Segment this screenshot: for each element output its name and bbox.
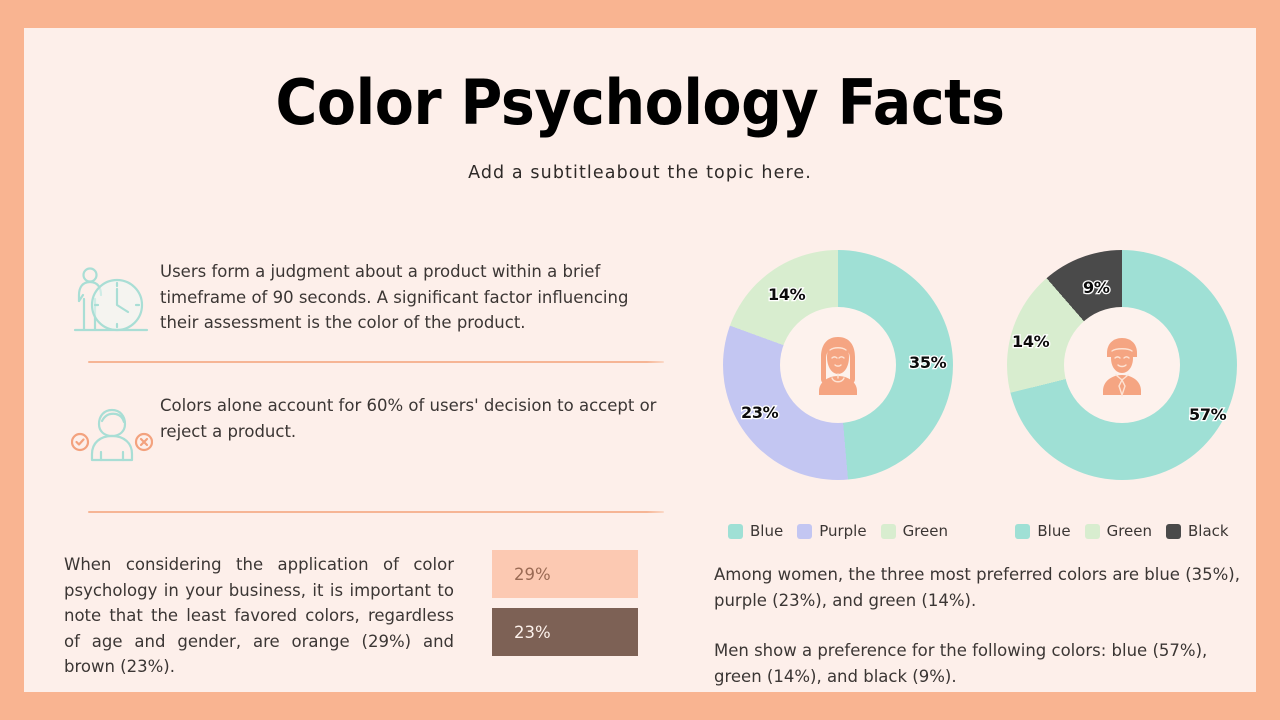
page-subtitle: Add a subtitleabout the topic here. xyxy=(24,163,1256,183)
women-pct-blue: 35% xyxy=(909,353,946,372)
legend-swatch-blue xyxy=(1015,524,1030,539)
divider-2 xyxy=(88,511,664,513)
fact-text-1: Users form a judgment about a product wi… xyxy=(160,259,680,336)
women-chart-legend: Blue Purple Green xyxy=(696,522,980,540)
legend-label-black: Black xyxy=(1188,522,1229,540)
legend-item-black: Black xyxy=(1166,522,1229,540)
legend-item-blue: Blue xyxy=(1015,522,1070,540)
women-pct-purple: 23% xyxy=(741,403,778,422)
legend-label-purple: Purple xyxy=(819,522,866,540)
least-favored-bars: 29% 23% xyxy=(492,544,638,656)
women-color-preference-donut: 35% 23% 14% Blue Purple Green xyxy=(696,250,980,540)
legend-swatch-blue xyxy=(728,524,743,539)
legend-item-blue: Blue xyxy=(728,522,783,540)
bottom-left-paragraph: When considering the application of colo… xyxy=(64,544,454,680)
legend-swatch-green xyxy=(881,524,896,539)
men-pct-black: 9% xyxy=(1083,278,1110,297)
person-approve-reject-icon xyxy=(64,393,160,477)
bottom-right-paragraph-1: Among women, the three most preferred co… xyxy=(714,562,1254,613)
legend-swatch-black xyxy=(1166,524,1181,539)
bottom-left-block: When considering the application of colo… xyxy=(64,544,680,680)
slide-panel: Color Psychology Facts Add a subtitleabo… xyxy=(24,28,1256,692)
charts-area: 35% 23% 14% Blue Purple Green xyxy=(688,250,1256,540)
legend-item-green: Green xyxy=(881,522,948,540)
legend-swatch-purple xyxy=(797,524,812,539)
legend-item-green: Green xyxy=(1085,522,1152,540)
orange-bar: 29% xyxy=(492,550,638,598)
legend-item-purple: Purple xyxy=(797,522,866,540)
fact-item-2: Colors alone account for 60% of users' d… xyxy=(64,363,680,511)
brown-bar: 23% xyxy=(492,608,638,656)
facts-column: Users form a judgment about a product wi… xyxy=(64,243,680,513)
women-donut-wrap: 35% 23% 14% xyxy=(723,250,953,480)
men-donut-wrap: 57% 14% 9% xyxy=(1007,250,1237,480)
legend-label-blue: Blue xyxy=(1037,522,1070,540)
man-avatar-icon xyxy=(1086,329,1158,401)
legend-swatch-green xyxy=(1085,524,1100,539)
bottom-right-block: Among women, the three most preferred co… xyxy=(714,562,1254,689)
women-donut-center xyxy=(780,307,896,423)
bottom-right-paragraph-2: Men show a preference for the following … xyxy=(714,638,1254,689)
women-pct-green: 14% xyxy=(768,285,805,304)
woman-avatar-icon xyxy=(802,329,874,401)
men-donut-center xyxy=(1064,307,1180,423)
legend-label-green: Green xyxy=(1107,522,1152,540)
men-color-preference-donut: 57% 14% 9% Blue Green Black xyxy=(980,250,1264,540)
men-pct-green: 14% xyxy=(1012,332,1049,351)
legend-label-green: Green xyxy=(903,522,948,540)
fact-text-2: Colors alone account for 60% of users' d… xyxy=(160,393,680,444)
slide-frame: Color Psychology Facts Add a subtitleabo… xyxy=(0,0,1280,720)
men-pct-blue: 57% xyxy=(1189,405,1226,424)
legend-label-blue: Blue xyxy=(750,522,783,540)
men-chart-legend: Blue Green Black xyxy=(980,522,1264,540)
page-title: Color Psychology Facts xyxy=(73,68,1206,138)
fact-item-1: Users form a judgment about a product wi… xyxy=(64,243,680,361)
person-with-clock-icon xyxy=(64,259,160,343)
